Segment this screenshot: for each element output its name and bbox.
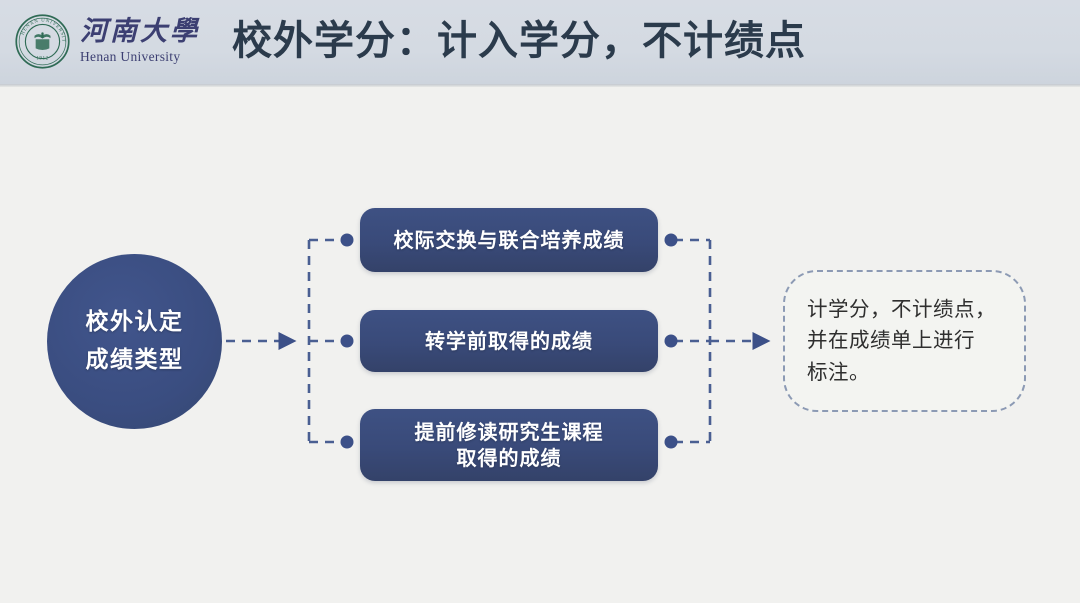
category-box-3[interactable]: 提前修读研究生课程 取得的成绩	[360, 409, 658, 481]
result-callout-text: 计学分，不计绩点， 并在成绩单上进行 标注。	[807, 294, 996, 387]
slide: HENAN UNIVERSITY 1912 河南大學 Henan Univers…	[0, 0, 1080, 603]
source-node-circle[interactable]: 校外认定 成绩类型	[47, 254, 222, 429]
result-callout[interactable]: 计学分，不计绩点， 并在成绩单上进行 标注。	[783, 270, 1026, 412]
category-box-1[interactable]: 校际交换与联合培养成绩	[360, 208, 658, 272]
svg-text:1912: 1912	[36, 56, 49, 62]
university-logo: HENAN UNIVERSITY 1912 河南大學 Henan Univers…	[14, 13, 200, 70]
category-box-2[interactable]: 转学前取得的成绩	[360, 310, 658, 372]
source-node-label-line2: 成绩类型	[86, 342, 184, 379]
category-box-1-label: 校际交换与联合培养成绩	[394, 227, 625, 253]
university-seal-icon: HENAN UNIVERSITY 1912	[14, 13, 71, 70]
logo-name-block: 河南大學 Henan University	[80, 18, 200, 66]
svg-text:HENAN UNIVERSITY: HENAN UNIVERSITY	[14, 13, 66, 43]
page-title: 校外学分：计入学分，不计绩点	[232, 11, 806, 71]
source-node-label-line1: 校外认定	[86, 304, 184, 341]
logo-name-en: Henan University	[80, 50, 200, 64]
category-box-3-label: 提前修读研究生课程 取得的成绩	[415, 419, 604, 472]
flow-diagram: 校外认定 成绩类型 校际交换与联合培养成绩 转学前取得的成绩 提前修读研究生课程…	[0, 84, 1080, 603]
logo-name-cn: 河南大學	[80, 18, 200, 45]
category-box-2-label: 转学前取得的成绩	[425, 328, 593, 354]
